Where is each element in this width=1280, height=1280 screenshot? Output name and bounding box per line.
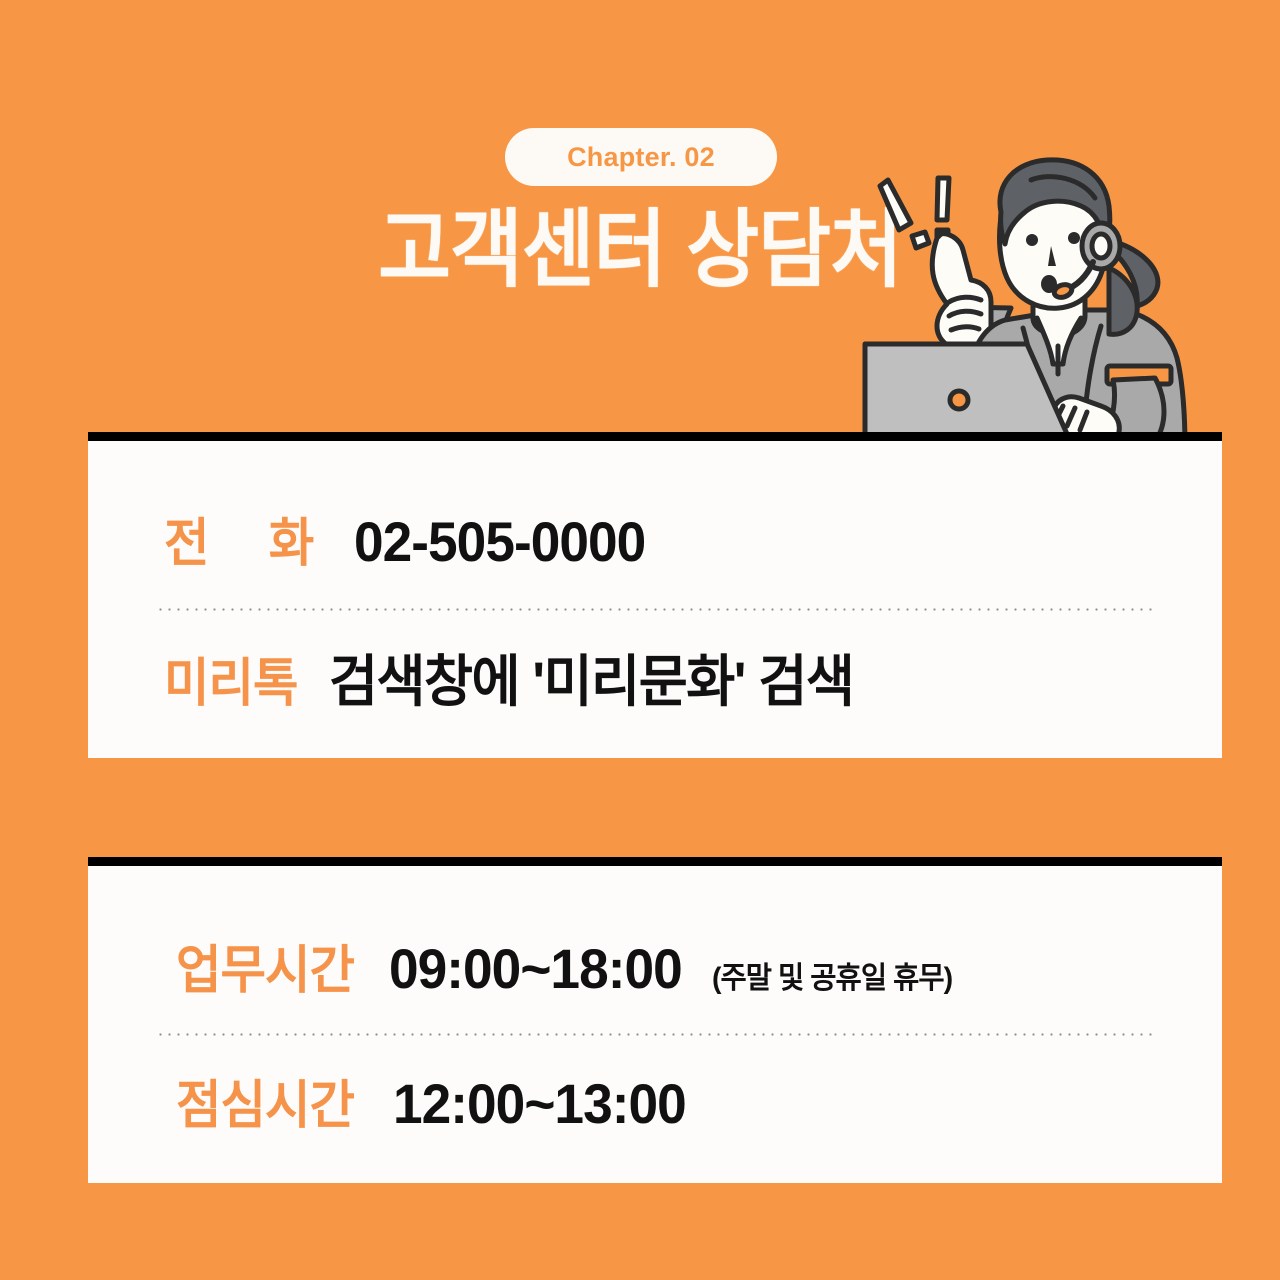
contact-card-divider xyxy=(156,608,1156,611)
chapter-badge-label: Chapter. 02 xyxy=(567,142,715,173)
contact-row-phone: 전 화 02-505-0000 xyxy=(164,501,661,576)
hours-card-divider xyxy=(156,1033,1156,1036)
contact-row-mirtalk: 미리톡 검색창에 '미리문화' 검색 xyxy=(164,637,880,718)
phone-value[interactable]: 02-505-0000 xyxy=(354,509,645,574)
worktime-value: 09:00~18:00 xyxy=(389,936,682,1001)
card-top-bar xyxy=(88,857,1222,866)
lunchtime-label: 점심시간 xyxy=(176,1063,354,1138)
hours-row-worktime: 업무시간 09:00~18:00 (주말 및 공휴일 휴무) xyxy=(176,928,964,1003)
contact-card: 전 화 02-505-0000 미리톡 검색창에 '미리문화' 검색 xyxy=(88,432,1222,758)
hours-row-lunchtime: 점심시간 12:00~13:00 xyxy=(176,1063,702,1138)
mirtalk-label: 미리톡 xyxy=(164,641,298,716)
worktime-note: (주말 및 공휴일 휴무) xyxy=(712,953,952,997)
call-center-agent-illustration xyxy=(855,150,1235,480)
chapter-badge: Chapter. 02 xyxy=(505,128,777,186)
header: Chapter. 02 고객센터 상담처 xyxy=(0,0,1280,440)
hours-card: 업무시간 09:00~18:00 (주말 및 공휴일 휴무) 점심시간 12:0… xyxy=(88,857,1222,1183)
card-top-bar xyxy=(88,432,1222,441)
mirtalk-value: 검색창에 '미리문화' 검색 xyxy=(329,637,853,718)
worktime-label: 업무시간 xyxy=(176,928,354,1003)
phone-label: 전 화 xyxy=(164,501,337,576)
lunchtime-value: 12:00~13:00 xyxy=(393,1071,686,1136)
